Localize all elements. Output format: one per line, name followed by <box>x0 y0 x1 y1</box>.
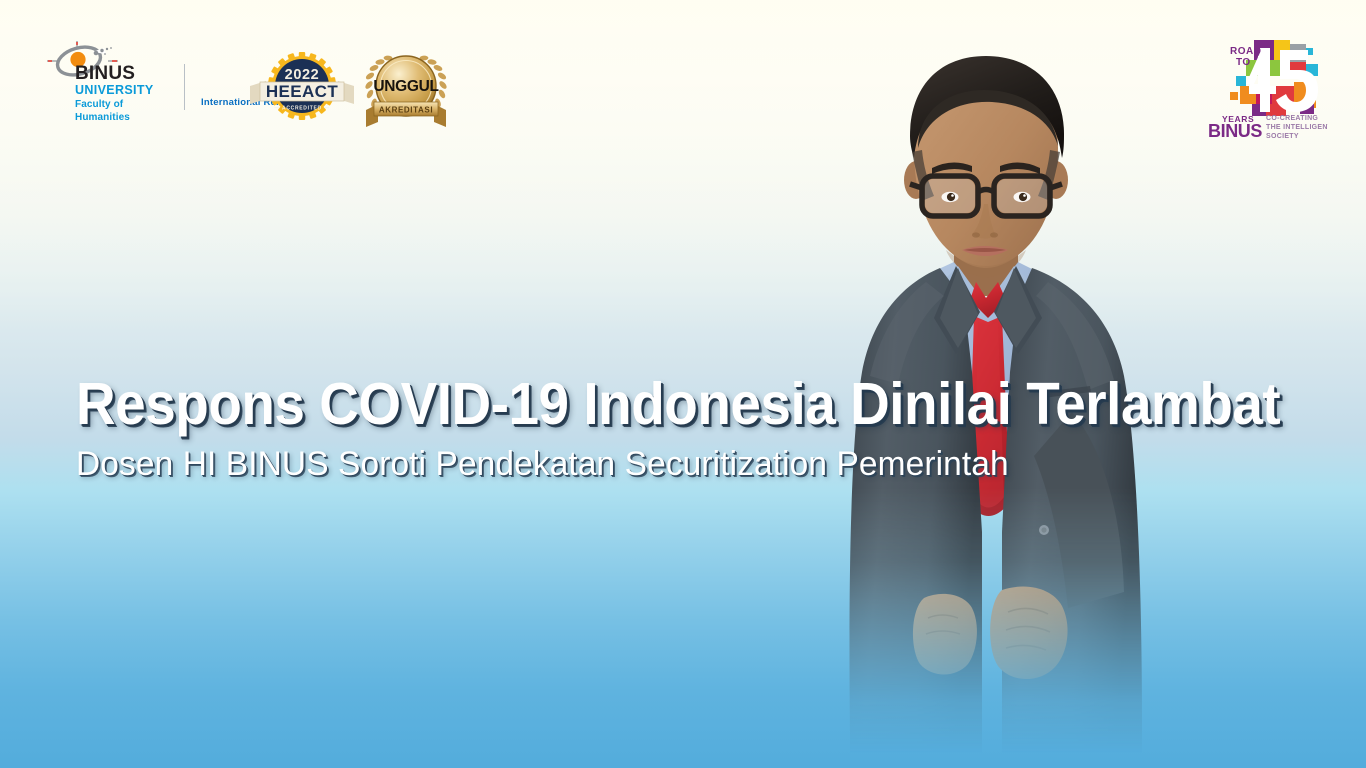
binus-faculty-line2: Humanities <box>75 112 154 123</box>
heeact-badge-icon: 2022 HEEACT — ACCREDITED — <box>248 48 356 128</box>
binus-wordmark-name: BINUS <box>75 64 154 83</box>
to-label: TO <box>1236 57 1251 68</box>
binus-45-label: BINUS <box>1208 121 1262 141</box>
road-to-45-icon: ROAD TO YEARS BINUS CO-CREATING THE INTE… <box>1200 34 1328 146</box>
heeact-title: HEEACT <box>266 82 339 101</box>
headline-block: Respons COVID-19 Indonesia Dinilai Terla… <box>76 374 1196 484</box>
binus-logo-mark: BINUS UNIVERSITY Faculty of Humanities <box>40 38 162 116</box>
poster-canvas: BINUS UNIVERSITY Faculty of Humanities I… <box>0 0 1366 768</box>
road-to-45-binus-logo: ROAD TO YEARS BINUS CO-CREATING THE INTE… <box>1200 34 1328 146</box>
poster-title: Respons COVID-19 Indonesia Dinilai Terla… <box>76 374 1118 434</box>
unggul-ribbon-label: AKREDITASI <box>379 106 433 115</box>
tagline-line-3: SOCIETY <box>1266 133 1299 140</box>
heeact-subtitle: — ACCREDITED — <box>274 106 329 112</box>
heeact-accreditation-badge: 2022 HEEACT — ACCREDITED — <box>248 48 356 128</box>
unggul-badge-icon: UNGGUL AKREDITASI <box>358 48 454 134</box>
road-label: ROAD <box>1230 46 1261 57</box>
tagline-line-1: CO-CREATING <box>1266 115 1318 122</box>
binus-wordmark-university: UNIVERSITY <box>75 84 154 97</box>
logo-bar: BINUS UNIVERSITY Faculty of Humanities I… <box>0 0 1366 150</box>
binus-wordmark: BINUS UNIVERSITY Faculty of Humanities <box>75 64 154 123</box>
logo-divider <box>184 64 185 110</box>
unggul-title: UNGGUL <box>373 78 438 95</box>
poster-subtitle: Dosen HI BINUS Soroti Pendekatan Securit… <box>76 446 1179 483</box>
heeact-year: 2022 <box>285 67 320 83</box>
binus-faculty-line1: Faculty of <box>75 99 154 110</box>
tagline-line-2: THE INTELLIGENT <box>1266 124 1328 131</box>
unggul-accreditation-badge: UNGGUL AKREDITASI <box>358 48 454 134</box>
